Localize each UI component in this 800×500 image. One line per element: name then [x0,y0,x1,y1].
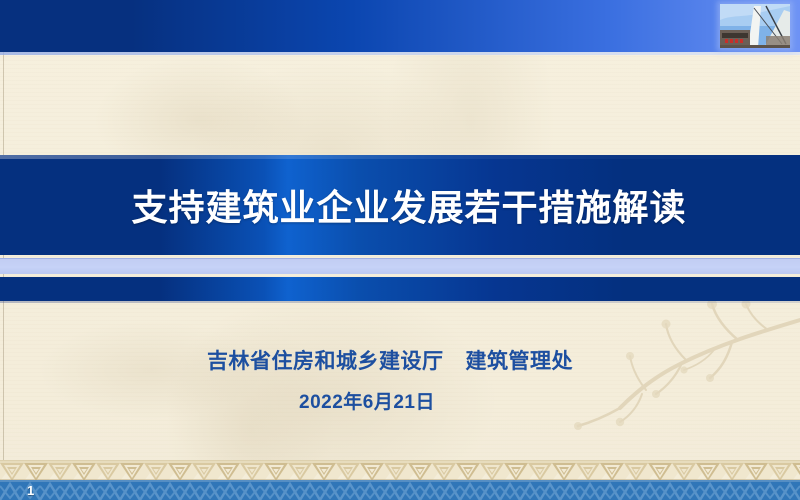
decorative-bottom-border [0,460,800,480]
presentation-date: 2022年6月21日 [0,387,780,414]
footer-bar: 1 [0,480,800,500]
secondary-accent-band-shadow [0,301,800,303]
slide-canvas: 支持建筑业企业发展若干措施解读 吉林省住房和城乡建设厅建筑管理处 2022年6月… [0,0,800,500]
page-title: 支持建筑业企业发展若干措施解读 [0,155,800,255]
top-banner-underline [0,52,800,55]
footer-pattern-texture [0,480,800,500]
page-number: 1 [27,483,34,498]
presenter-organization-part2: 建筑管理处 [466,350,574,373]
presenter-organization: 吉林省住房和城乡建设厅建筑管理处 [0,345,780,375]
light-accent-band [0,258,800,274]
presenter-block: 吉林省住房和城乡建设厅建筑管理处 2022年6月21日 [0,345,800,414]
presenter-organization-part1: 吉林省住房和城乡建设厅 [207,350,444,373]
footer-top-highlight [0,480,800,482]
top-banner [0,0,800,52]
building-photo-thumbnail-icon [720,4,790,48]
secondary-accent-band [0,277,800,301]
left-frame-rule [3,52,4,500]
